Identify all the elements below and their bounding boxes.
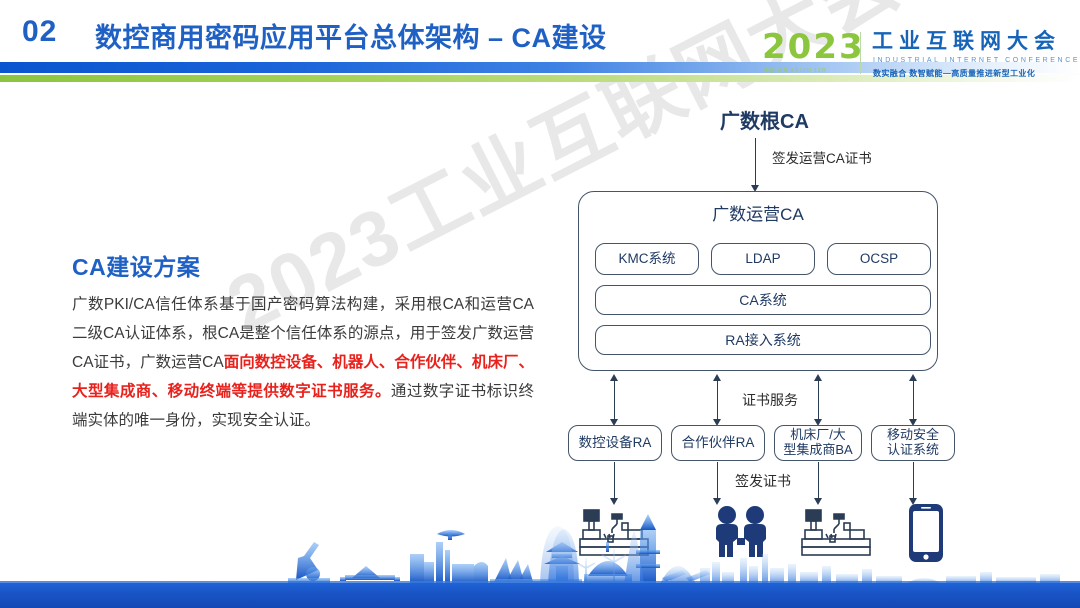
arrow-cert-service-3 xyxy=(818,380,819,420)
logo-slogan: 数实融合 数智赋能—高质量推进新型工业化 xyxy=(873,68,1035,79)
logo-name-en: INDUSTRIAL INTERNET CONFERENCE xyxy=(873,57,1080,64)
ra-box-cnc-device[interactable]: 数控设备RA xyxy=(568,425,662,461)
page-title: 数控商用密码应用平台总体架构 – CA建设 xyxy=(95,16,607,55)
arrow-label-cert-service: 证书服务 xyxy=(742,390,798,410)
arrow-head-cert-service-2-up xyxy=(713,374,721,381)
module-ca-system[interactable]: CA系统 xyxy=(595,285,931,315)
logo-date: 中国·青岛 8月18日-19日 xyxy=(764,67,827,74)
arrow-cert-service-2 xyxy=(717,380,718,420)
logo-name-cn: 工业互联网大会 xyxy=(872,31,1061,53)
module-kmc-label: KMC系统 xyxy=(619,251,676,267)
ra-box-partner-label: 合作伙伴RA xyxy=(682,435,755,451)
module-ra-access-system-label: RA接入系统 xyxy=(725,332,800,348)
ra-box-partner[interactable]: 合作伙伴RA xyxy=(671,425,765,461)
arrow-head-issue-cert-2 xyxy=(713,498,721,505)
arrow-head-cert-service-1-up xyxy=(610,374,618,381)
arrow-issue-cert-1 xyxy=(614,462,615,499)
module-ca-system-label: CA系统 xyxy=(739,292,786,308)
arrow-issue-cert-2 xyxy=(717,462,718,499)
operating-ca-container: 广数运营CA KMC系统 LDAP OCSP CA系统 RA接入系统 xyxy=(578,191,938,371)
operating-ca-label: 广数运营CA xyxy=(579,205,937,225)
module-kmc[interactable]: KMC系统 xyxy=(595,243,699,275)
arrow-head-issue-cert-3 xyxy=(814,498,822,505)
ra-box-machine-tool-integrator[interactable]: 机床厂/大 型集成商BA xyxy=(774,425,862,461)
arrow-root-to-operating xyxy=(755,138,756,186)
arrow-label-issue-operating-cert: 签发运营CA证书 xyxy=(772,147,872,167)
root-ca-label: 广数根CA xyxy=(720,105,809,134)
logo-year: 2023 xyxy=(762,30,865,64)
ra-box-mobile-security[interactable]: 移动安全 认证系统 xyxy=(871,425,955,461)
ca-architecture-diagram: 广数根CA 签发运营CA证书 广数运营CA KMC系统 LDAP OCSP CA… xyxy=(540,95,1080,515)
arrow-cert-service-1 xyxy=(614,380,615,420)
ra-box-mobile-security-label-2: 认证系统 xyxy=(887,443,939,458)
arrow-head-cert-service-3-up xyxy=(814,374,822,381)
arrow-head-issue-cert-1 xyxy=(610,498,618,505)
arrow-label-issue-cert: 签发证书 xyxy=(735,471,791,491)
module-ldap[interactable]: LDAP xyxy=(711,243,815,275)
ra-box-machine-tool-integrator-label-1: 机床厂/大 xyxy=(790,428,846,443)
ra-box-cnc-device-label: 数控设备RA xyxy=(579,435,652,451)
water-band xyxy=(0,583,1080,608)
module-ra-access-system[interactable]: RA接入系统 xyxy=(595,325,931,355)
arrow-issue-cert-4 xyxy=(913,462,914,499)
section-number: 02 xyxy=(22,15,57,49)
city-industry-skyline xyxy=(0,506,1080,586)
slide-root: 2023工业互联网大会 02 数控商用密码应用平台总体架构 – CA建设 202… xyxy=(0,0,1080,608)
ca-plan-paragraph: 广数PKI/CA信任体系基于国产密码算法构建，采用根CA和运营CA二级CA认证体… xyxy=(72,290,534,435)
conference-logo: 2023 中国·青岛 8月18日-19日 工业互联网大会 INDUSTRIAL … xyxy=(762,30,1072,82)
arrow-cert-service-4 xyxy=(913,380,914,420)
module-ocsp[interactable]: OCSP xyxy=(827,243,931,275)
arrow-issue-cert-3 xyxy=(818,462,819,499)
ra-box-mobile-security-label-1: 移动安全 xyxy=(887,428,939,443)
ca-plan-heading: CA建设方案 xyxy=(72,248,200,282)
ra-box-machine-tool-integrator-label-2: 型集成商BA xyxy=(783,443,852,458)
arrow-head-cert-service-4-up xyxy=(909,374,917,381)
logo-divider xyxy=(860,32,861,74)
module-ldap-label: LDAP xyxy=(745,251,780,267)
module-ocsp-label: OCSP xyxy=(860,251,898,267)
